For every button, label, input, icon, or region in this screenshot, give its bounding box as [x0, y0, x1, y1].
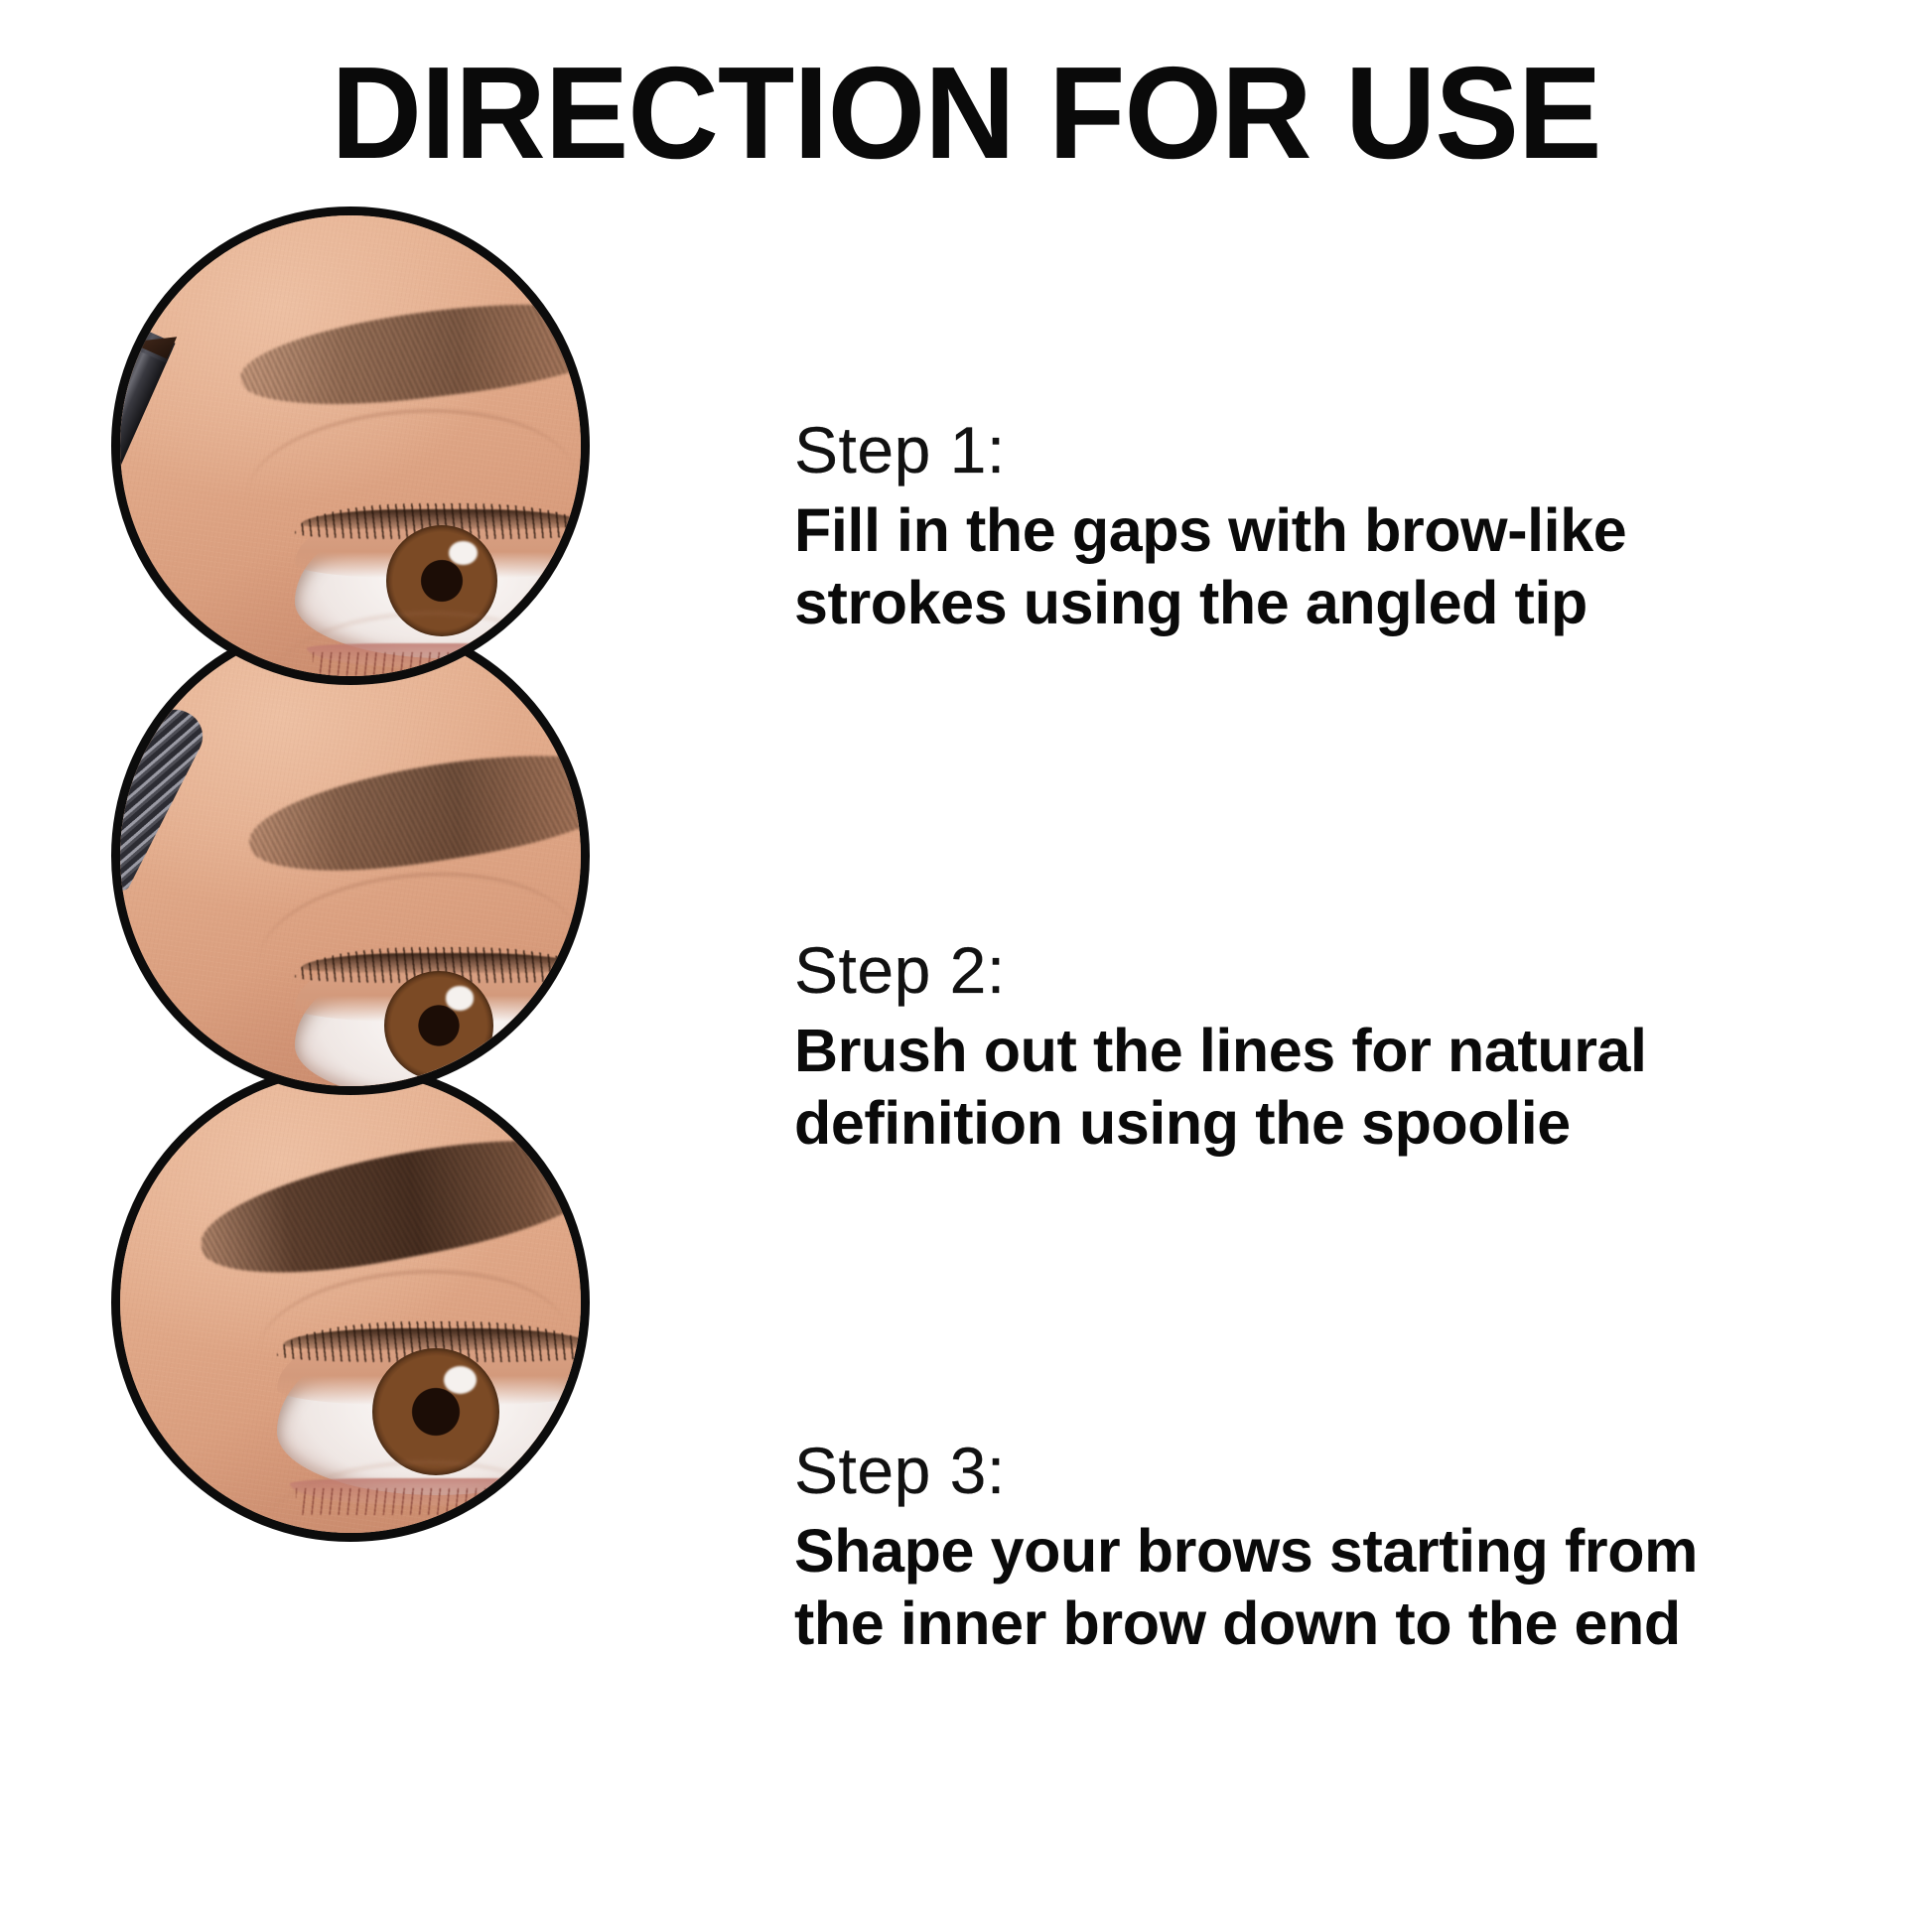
step-2-description: Brush out the lines for natural definiti…: [794, 1015, 1647, 1160]
step-3-label: Step 3:: [794, 1434, 1698, 1507]
iris: [384, 971, 493, 1080]
step-2-image: [111, 617, 590, 1095]
step-1-label: Step 1:: [794, 413, 1626, 486]
iris: [372, 1348, 499, 1475]
step-2-label: Step 2:: [794, 933, 1647, 1007]
step-3-block: Step 3: Shape your brows starting from t…: [794, 1434, 1698, 1660]
infographic-page: DIRECTION FOR USE: [0, 0, 1932, 1932]
step-2-block: Step 2: Brush out the lines for natural …: [794, 933, 1647, 1160]
step-3-image: [111, 1063, 590, 1542]
step-1-image: [111, 207, 590, 685]
eye: [295, 953, 590, 1095]
step-1-description: Fill in the gaps with brow-like strokes …: [794, 494, 1626, 639]
step-1-block: Step 1: Fill in the gaps with brow-like …: [794, 413, 1626, 639]
step-3-description: Shape your brows starting from the inner…: [794, 1515, 1698, 1660]
